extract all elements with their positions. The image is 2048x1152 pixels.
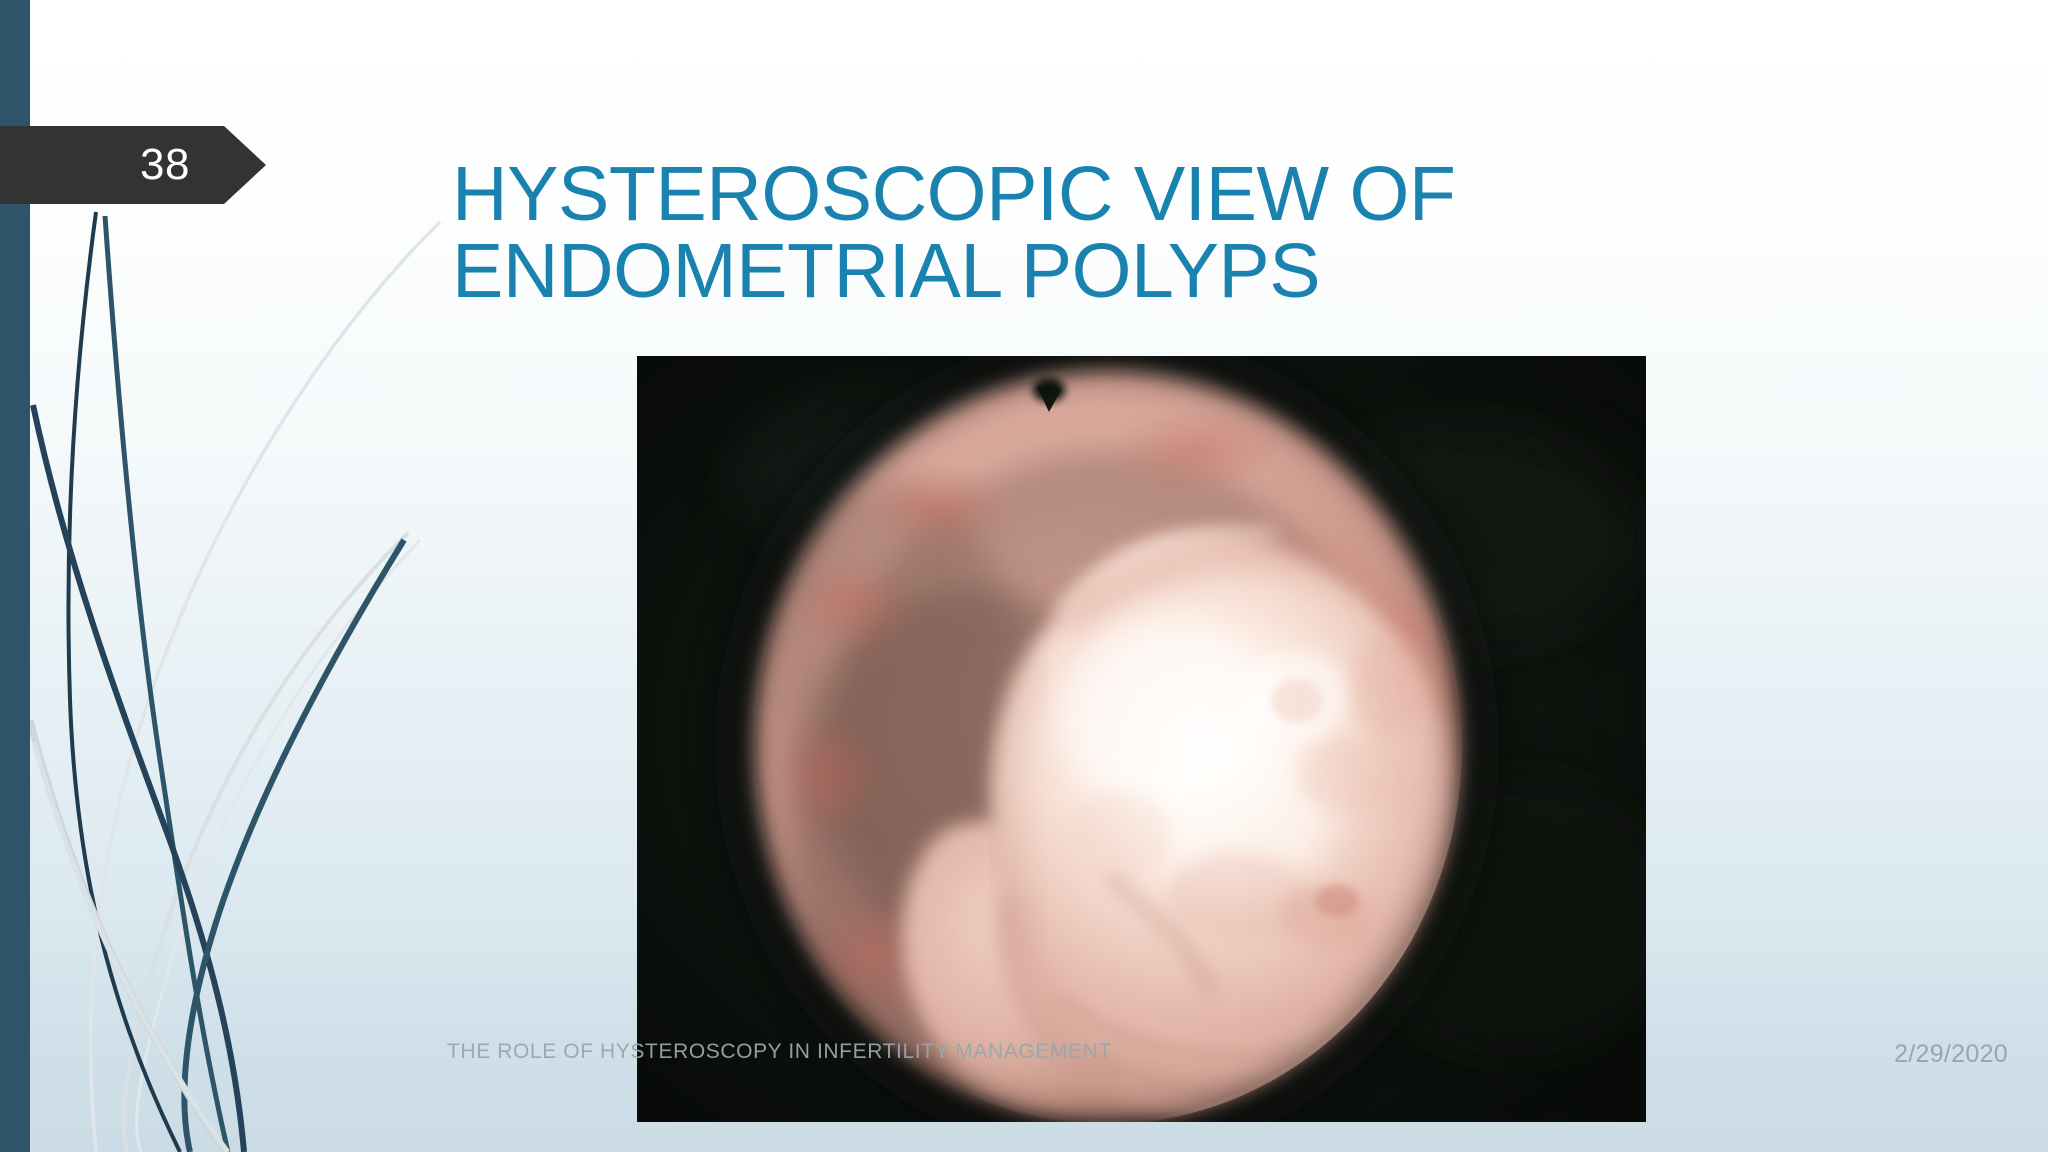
hysteroscopic-image — [637, 356, 1646, 1122]
slide-title: HYSTEROSCOPIC VIEW OF ENDOMETRIAL POLYPS — [452, 156, 1632, 312]
slide-number-banner: 38 — [0, 126, 266, 204]
hysteroscopic-image-graphic — [637, 356, 1646, 1122]
footer-presentation-title: THE ROLE OF HYSTEROSCOPY IN INFERTILITY … — [447, 1040, 1112, 1064]
presentation-slide: 38 HYSTEROSCOPIC VIEW OF ENDOMETRIAL POL… — [0, 0, 2048, 1152]
footer-date: 2/29/2020 — [1894, 1040, 2008, 1069]
slide-number-text: 38 — [140, 143, 190, 187]
